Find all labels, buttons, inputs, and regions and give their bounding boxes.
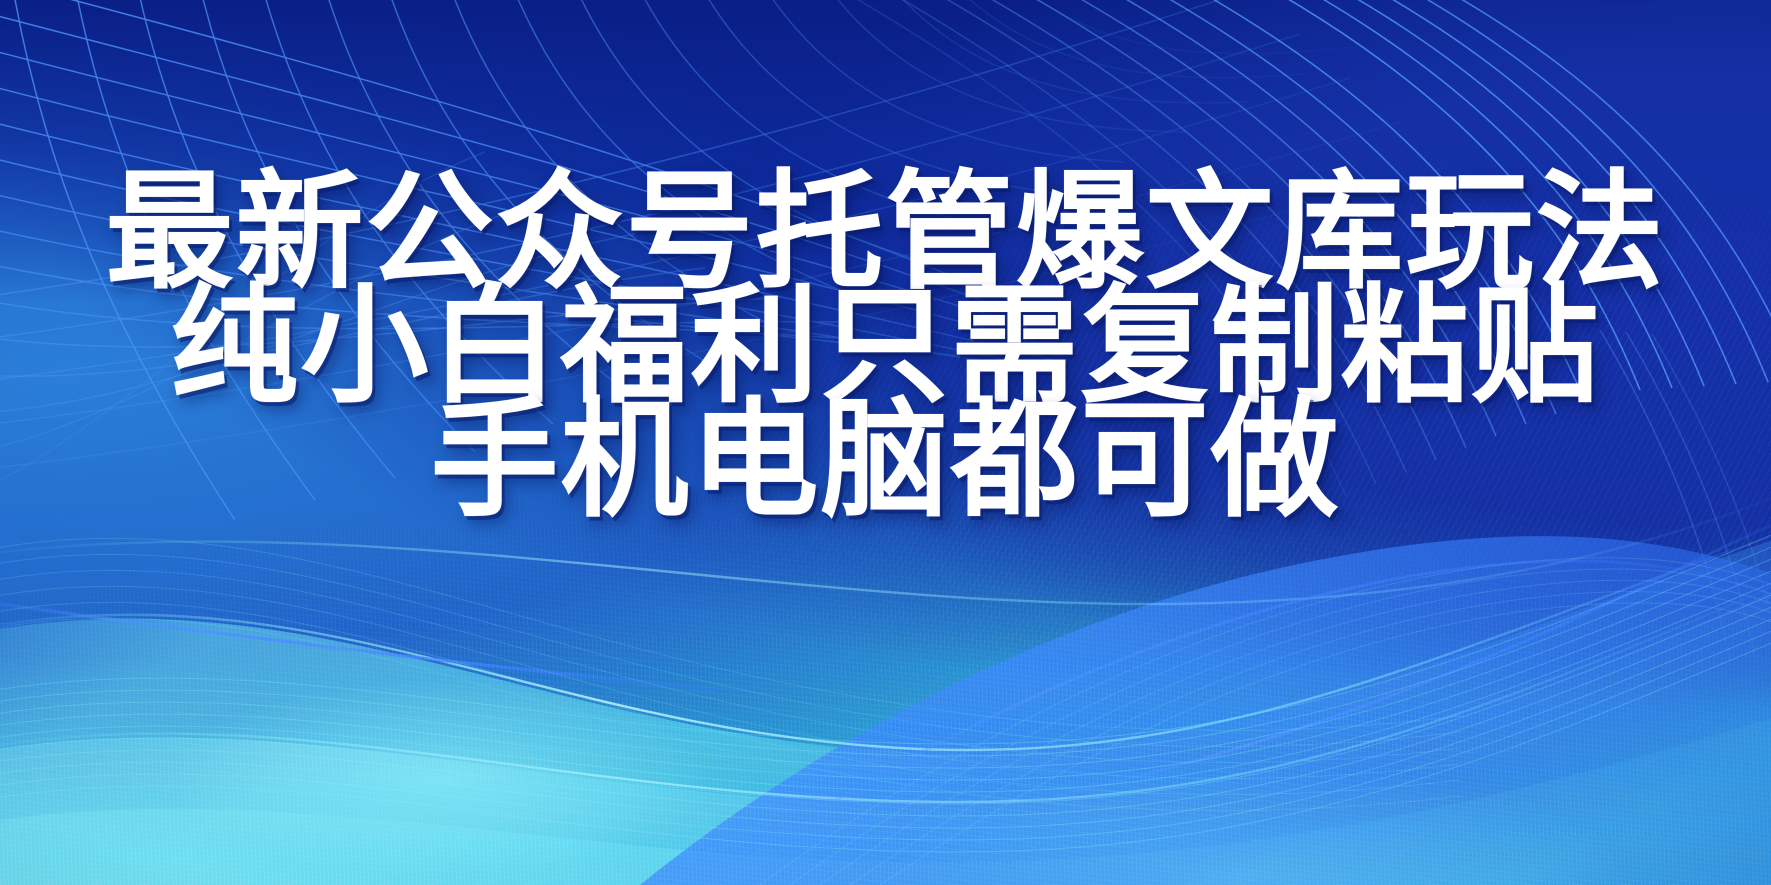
headline-line-2: 纯小白福利只需复制粘贴 [0,292,1771,402]
headline-line-1: 最新公众号托管爆文库玩法 [0,178,1771,288]
headline-line-3: 手机电脑都可做 [0,406,1771,516]
headline: 最新公众号托管爆文库玩法 纯小白福利只需复制粘贴 手机电脑都可做 [0,178,1771,516]
promo-banner: 最新公众号托管爆文库玩法 纯小白福利只需复制粘贴 手机电脑都可做 [0,0,1771,885]
